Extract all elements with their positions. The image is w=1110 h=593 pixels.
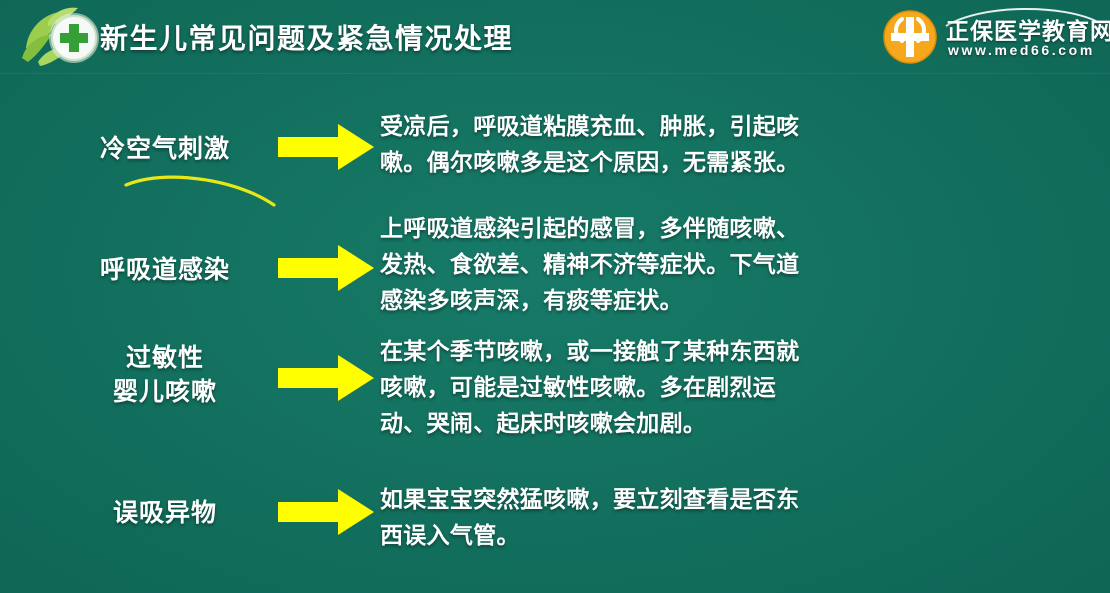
row-label-line1: 呼吸道感染 [100, 256, 230, 284]
row-label: 呼吸道感染 [50, 253, 280, 287]
right-arrow-icon [278, 245, 374, 291]
orange-circle-cross-logo-icon [882, 9, 938, 65]
brand-name: 正保医学教育网 [946, 12, 1110, 46]
row-label-line1: 误吸异物 [113, 499, 217, 527]
row-text: 上呼吸道感染引起的感冒，多伴随咳嗽、发热、食欲差、精神不济等症状。下气道感染多咳… [380, 210, 800, 318]
brand-logo[interactable]: 正保医学教育网 www.med66.com [880, 6, 1104, 68]
row-text: 受凉后，呼吸道粘膜充血、肿胀，引起咳嗽。偶尔咳嗽多是这个原因，无需紧张。 [380, 108, 800, 180]
row-label-line2: 婴儿咳嗽 [50, 375, 280, 409]
row-label-line1: 过敏性 [126, 344, 204, 372]
right-arrow-icon [278, 355, 374, 401]
row-label-line1: 冷空气刺激 [100, 135, 230, 163]
row-label: 误吸异物 [50, 496, 280, 530]
page-title: 新生儿常见问题及紧急情况处理 [100, 17, 513, 57]
brand-url: www.med66.com [948, 42, 1095, 58]
right-arrow-icon [278, 489, 374, 535]
row-text: 在某个季节咳嗽，或一接触了某种东西就咳嗽，可能是过敏性咳嗽。多在剧烈运动、哭闹、… [380, 333, 800, 441]
row-text: 如果宝宝突然猛咳嗽，要立刻查看是否东西误入气管。 [380, 481, 800, 553]
yellow-underline-stroke-icon [118, 163, 298, 211]
row-label: 过敏性 婴儿咳嗽 [50, 341, 280, 409]
slide-canvas: 新生儿常见问题及紧急情况处理 正保医学教育网 [0, 0, 1110, 593]
header-divider [0, 73, 1110, 74]
slide-header: 新生儿常见问题及紧急情况处理 正保医学教育网 [0, 0, 1110, 74]
right-arrow-icon [278, 124, 374, 170]
row-label: 冷空气刺激 [50, 132, 280, 166]
